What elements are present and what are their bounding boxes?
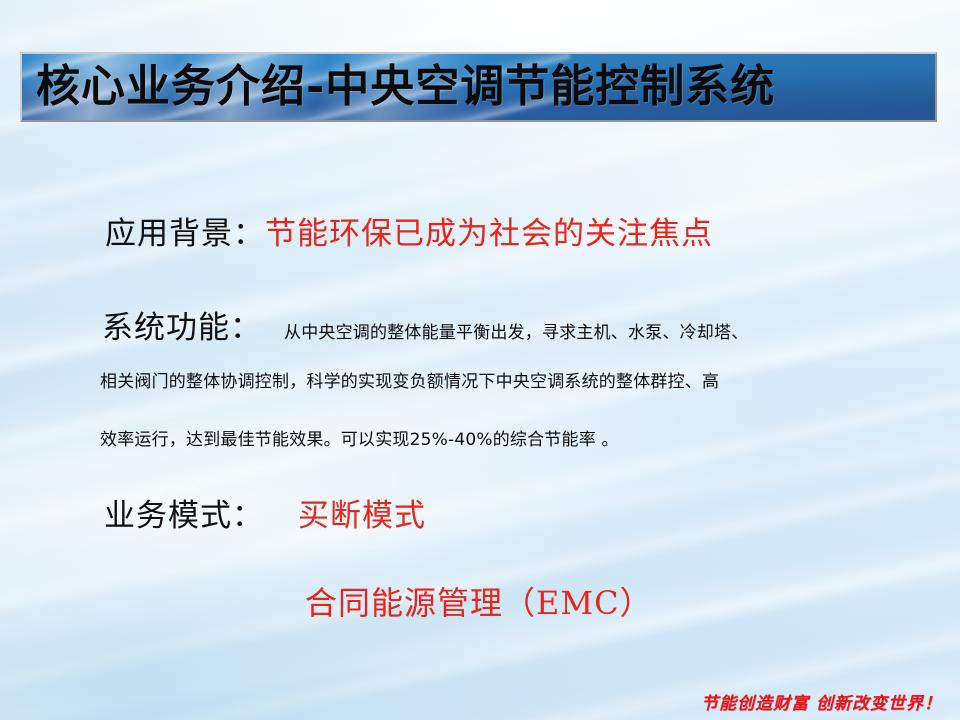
slide: 核心业务介绍-中央空调节能控制系统 应用背景：节能环保已成为社会的关注焦点 系统… bbox=[0, 0, 960, 720]
application-background-value: 节能环保已成为社会的关注焦点 bbox=[265, 216, 713, 252]
system-function-body-line-3: 效率运行，达到最佳节能效果。可以实现25%-40%的综合节能率 。 bbox=[100, 425, 619, 450]
application-background-label: 应用背景： bbox=[105, 216, 265, 252]
section-business-mode: 业务模式：买断模式 bbox=[104, 490, 426, 535]
system-function-body-line-1: 从中央空调的整体能量平衡出发，寻求主机、水泵、冷却塔、 bbox=[284, 323, 748, 343]
business-mode-option-purchase: 买断模式 bbox=[298, 498, 426, 534]
business-mode-option-emc: 合同能源管理（EMC） bbox=[305, 578, 653, 624]
section-system-function: 系统功能：从中央空调的整体能量平衡出发，寻求主机、水泵、冷却塔、 bbox=[102, 302, 748, 347]
system-function-label: 系统功能： bbox=[102, 310, 262, 346]
footer-slogan: 节能创造财富 创新改变世界！ bbox=[701, 689, 942, 714]
system-function-body-line-2: 相关阀门的整体协调控制，科学的实现变负额情况下中央空调系统的整体群控、高 bbox=[100, 367, 719, 392]
business-mode-label: 业务模式： bbox=[104, 498, 264, 534]
section-application-background: 应用背景：节能环保已成为社会的关注焦点 bbox=[105, 208, 713, 253]
slide-content: 应用背景：节能环保已成为社会的关注焦点 系统功能：从中央空调的整体能量平衡出发，… bbox=[0, 0, 960, 720]
